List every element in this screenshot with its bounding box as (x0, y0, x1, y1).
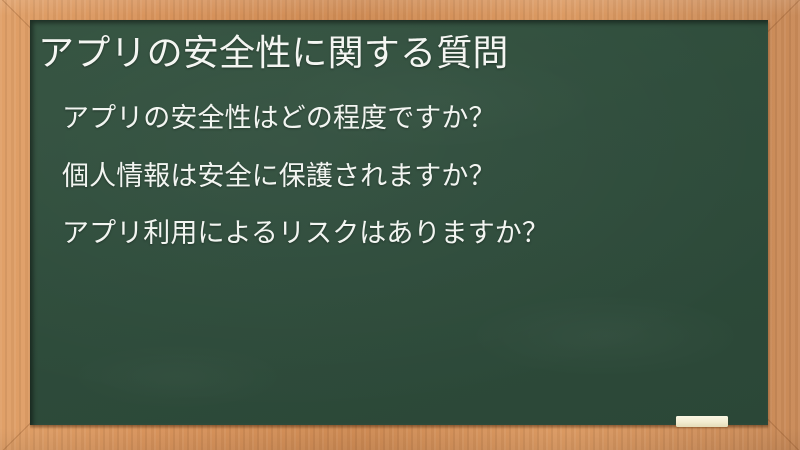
list-item: アプリ利用によるリスクはありますか？ (62, 219, 758, 249)
list-item: 個人情報は安全に保護されますか？ (62, 162, 758, 192)
chalk-stick-icon (676, 416, 728, 427)
question-list: アプリの安全性はどの程度ですか？ 個人情報は安全に保護されますか？ アプリ利用に… (62, 104, 758, 249)
chalkboard-surface: アプリの安全性に関する質問 アプリの安全性はどの程度ですか？ 個人情報は安全に保… (30, 20, 768, 425)
board-content: アプリの安全性に関する質問 アプリの安全性はどの程度ですか？ 個人情報は安全に保… (30, 20, 768, 425)
slide-title: アプリの安全性に関する質問 (38, 31, 509, 75)
chalkboard-slide: アプリの安全性に関する質問 アプリの安全性はどの程度ですか？ 個人情報は安全に保… (0, 0, 800, 450)
list-item: アプリの安全性はどの程度ですか？ (62, 104, 758, 134)
